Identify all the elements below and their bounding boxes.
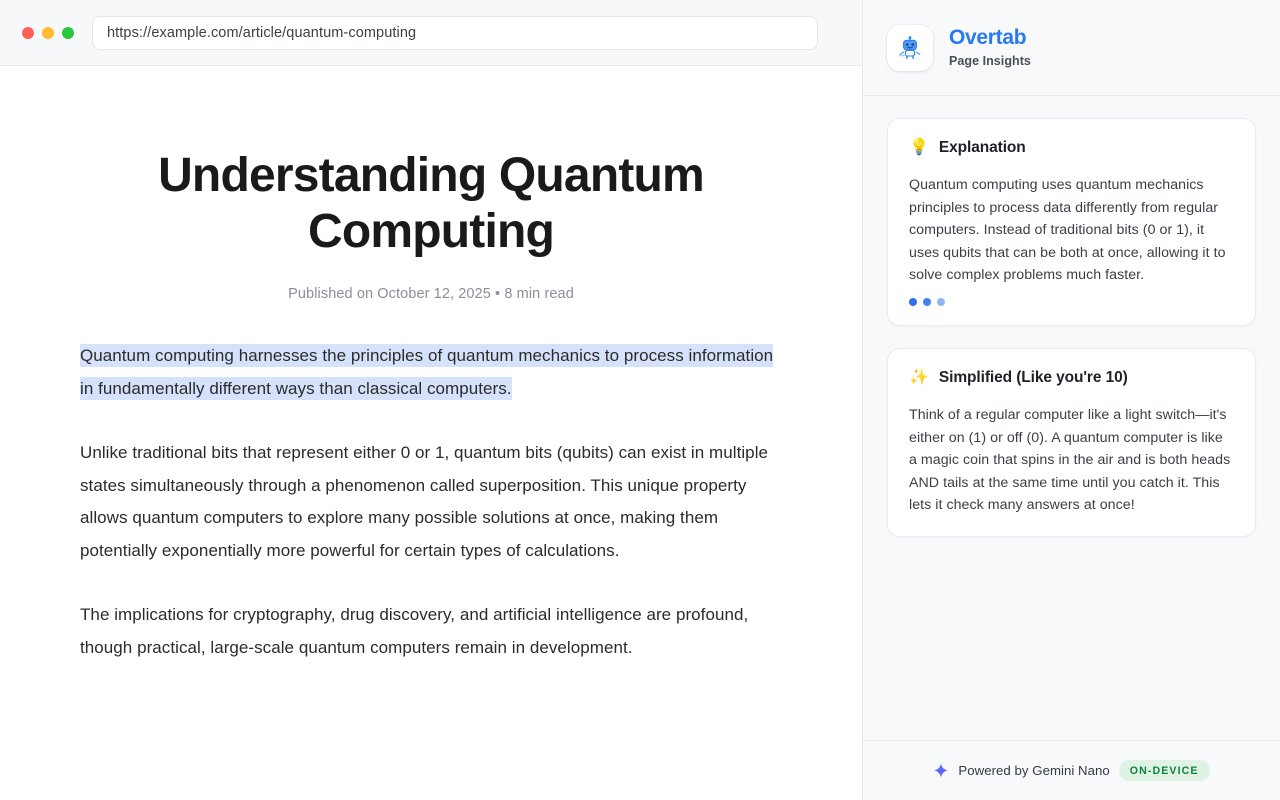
article-paragraph-highlighted: Quantum computing harnesses the principl… [80,340,782,405]
maximize-window-button[interactable] [62,27,74,39]
minimize-window-button[interactable] [42,27,54,39]
close-window-button[interactable] [22,27,34,39]
sparkles-icon: ✨ [909,370,929,386]
loading-dot [937,298,945,306]
article-page: Understanding Quantum Computing Publishe… [0,66,862,800]
app-logo-tile [887,25,933,71]
powered-by-label: Powered by Gemini Nano [958,763,1109,778]
card-header: 💡 Explanation [909,139,1234,157]
sparkle-star-icon [933,763,949,779]
card-title: Explanation [939,139,1026,157]
app-root: https://example.com/article/quantum-comp… [0,0,1280,800]
overtab-side-panel: Overtab Page Insights 💡 Explanation Quan… [862,0,1280,800]
panel-header: Overtab Page Insights [863,0,1280,96]
brand-subtitle: Page Insights [949,55,1031,68]
insight-card-simplified[interactable]: ✨ Simplified (Like you're 10) Think of a… [887,348,1256,537]
panel-footer: Powered by Gemini Nano ON-DEVICE [863,740,1280,800]
brand-name: Overtab [949,27,1031,48]
text-selection-highlight[interactable]: Quantum computing harnesses the principl… [80,344,773,400]
address-bar[interactable]: https://example.com/article/quantum-comp… [92,16,818,50]
article-paragraph: Unlike traditional bits that represent e… [80,437,782,567]
loading-dot [923,298,931,306]
loading-dots-indicator [909,298,1234,306]
card-body-text: Quantum computing uses quantum mechanics… [909,174,1234,287]
insight-card-explanation[interactable]: 💡 Explanation Quantum computing uses qua… [887,118,1256,326]
article-meta: Published on October 12, 2025 • 8 min re… [80,286,782,302]
browser-window: https://example.com/article/quantum-comp… [0,0,862,800]
loading-dot [909,298,917,306]
window-traffic-lights [22,27,74,39]
lightbulb-icon: 💡 [909,140,929,156]
panel-body: 💡 Explanation Quantum computing uses qua… [863,96,1280,740]
url-text[interactable]: https://example.com/article/quantum-comp… [107,25,416,41]
card-body-text: Think of a regular computer like a light… [909,404,1234,517]
card-header: ✨ Simplified (Like you're 10) [909,369,1234,387]
article-paragraph: The implications for cryptography, drug … [80,599,782,664]
status-badge: ON-DEVICE [1119,760,1210,781]
card-title: Simplified (Like you're 10) [939,369,1128,387]
browser-chrome-bar: https://example.com/article/quantum-comp… [0,0,862,66]
page-title: Understanding Quantum Computing [80,148,782,260]
brand-block: Overtab Page Insights [949,27,1031,68]
robot-logo-icon [897,35,923,61]
